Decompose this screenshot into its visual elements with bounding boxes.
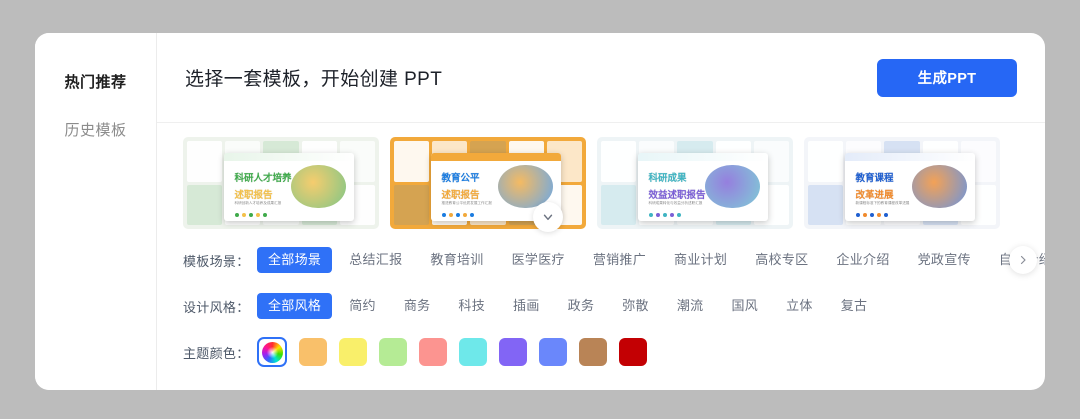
header: 选择一套模板，开始创建 PPT 生成PPT: [157, 33, 1045, 123]
filter-option-style-简约[interactable]: 简约: [338, 293, 387, 319]
filter-row-color: 主题颜色：: [183, 337, 1045, 367]
filter-options-scene[interactable]: 全部场景总结汇报教育培训医学医疗营销推广商业计划高校专区企业介绍党政宣传自我介绍: [257, 247, 1045, 273]
thumbnail-subtitle: 科研创新人才培养及成果汇报: [235, 201, 282, 206]
filter-option-scene-企业介绍[interactable]: 企业介绍: [825, 247, 900, 273]
main-panel: 选择一套模板，开始创建 PPT 生成PPT 科研人才培养述职报告科研创新人才培养…: [157, 33, 1045, 390]
template-thumbnail[interactable]: 科研成果效益述职报告科研成果转化与效益分析述职汇报: [597, 137, 793, 229]
filter-option-scene-总结汇报[interactable]: 总结汇报: [338, 247, 413, 273]
thumbnail-title-line2: 述职报告: [442, 187, 480, 201]
template-thumbnail[interactable]: 教育课程改革进展新课程标准下的教育课程改革进展: [804, 137, 1000, 229]
template-thumbnail-list[interactable]: 科研人才培养述职报告科研创新人才培养及成果汇报教育公平述职报告推进教育公平优质发…: [183, 137, 1045, 229]
template-thumbnail[interactable]: 科研人才培养述职报告科研创新人才培养及成果汇报: [183, 137, 379, 229]
filter-label-color: 主题颜色：: [183, 343, 257, 362]
filter-label-style: 设计风格：: [183, 297, 257, 316]
thumbnail-dots: [235, 213, 267, 217]
filter-option-scene-高校专区[interactable]: 高校专区: [744, 247, 819, 273]
thumbnail-title-line2: 效益述职报告: [649, 187, 706, 201]
thumbnail-subtitle: 科研成果转化与效益分析述职汇报: [649, 201, 703, 206]
thumbnail-subtitle: 推进教育公平优质发展工作汇报: [442, 201, 492, 206]
filter-option-style-商务[interactable]: 商务: [393, 293, 442, 319]
thumbnail-photo: [705, 165, 759, 209]
color-swatch-4[interactable]: [459, 338, 487, 366]
filter-option-style-复古[interactable]: 复古: [830, 293, 879, 319]
filter-option-scene-党政宣传[interactable]: 党政宣传: [907, 247, 982, 273]
filter-option-style-弥散[interactable]: 弥散: [611, 293, 660, 319]
thumbnail-dots: [442, 213, 474, 217]
sidebar-item-label: 热门推荐: [64, 74, 126, 91]
sidebar-item-hot-recommend[interactable]: 热门推荐: [35, 67, 156, 99]
thumbnail-title-line2: 述职报告: [235, 187, 273, 201]
thumbnail-dots: [649, 213, 681, 217]
filter-options-style[interactable]: 全部风格简约商务科技插画政务弥散潮流国风立体复古: [257, 293, 1045, 319]
thumbnail-title-line1: 科研成果: [649, 170, 687, 184]
thumbnail-title-line1: 科研人才培养: [235, 170, 292, 184]
color-wheel-icon[interactable]: [257, 337, 287, 367]
color-swatch-5[interactable]: [499, 338, 527, 366]
filter-option-style-国风[interactable]: 国风: [720, 293, 769, 319]
filter-option-style-科技[interactable]: 科技: [447, 293, 496, 319]
thumbnail-subtitle: 新课程标准下的教育课程改革进展: [856, 201, 910, 206]
filter-option-style-立体[interactable]: 立体: [775, 293, 824, 319]
filter-option-style-插画[interactable]: 插画: [502, 293, 551, 319]
thumbnail-photo: [912, 165, 966, 209]
filter-label-scene: 模板场景：: [183, 251, 257, 270]
filter-option-style-潮流[interactable]: 潮流: [666, 293, 715, 319]
chevron-right-icon[interactable]: [1009, 246, 1037, 274]
filter-row-style: 设计风格： 全部风格简约商务科技插画政务弥散潮流国风立体复古: [183, 291, 1045, 321]
color-swatch-3[interactable]: [419, 338, 447, 366]
thumbnail-photo: [291, 165, 345, 209]
filter-options-color[interactable]: [257, 337, 647, 367]
thumbnail-title-line2: 改革进展: [856, 187, 894, 201]
filter-option-scene-教育培训[interactable]: 教育培训: [419, 247, 494, 273]
color-swatch-7[interactable]: [579, 338, 607, 366]
generate-ppt-button[interactable]: 生成PPT: [877, 59, 1017, 97]
color-swatch-1[interactable]: [339, 338, 367, 366]
thumbnail-title-line1: 教育课程: [856, 170, 894, 184]
thumbnail-cover-slide: 科研成果效益述职报告科研成果转化与效益分析述职汇报: [638, 153, 767, 221]
filter-option-scene-全部场景[interactable]: 全部场景: [257, 247, 332, 273]
color-wheel-gradient: [262, 342, 283, 363]
sidebar-item-history-templates[interactable]: 历史模板: [35, 115, 156, 147]
thumbnail-cover-slide: 科研人才培养述职报告科研创新人才培养及成果汇报: [224, 153, 353, 221]
color-swatch-6[interactable]: [539, 338, 567, 366]
sidebar-item-label: 历史模板: [64, 122, 126, 139]
filters-section: 模板场景： 全部场景总结汇报教育培训医学医疗营销推广商业计划高校专区企业介绍党政…: [157, 229, 1045, 367]
color-swatch-0[interactable]: [299, 338, 327, 366]
page-title: 选择一套模板，开始创建 PPT: [185, 64, 877, 91]
filter-row-scene: 模板场景： 全部场景总结汇报教育培训医学医疗营销推广商业计划高校专区企业介绍党政…: [183, 245, 1045, 275]
template-picker-card: 热门推荐 历史模板 选择一套模板，开始创建 PPT 生成PPT 科研人才培养述职…: [35, 33, 1045, 390]
thumbnail-dots: [856, 213, 888, 217]
chevron-down-icon[interactable]: [533, 202, 563, 232]
color-swatch-2[interactable]: [379, 338, 407, 366]
sidebar: 热门推荐 历史模板: [35, 33, 157, 390]
template-thumbnails-section: 科研人才培养述职报告科研创新人才培养及成果汇报教育公平述职报告推进教育公平优质发…: [157, 123, 1045, 229]
filter-option-scene-商业计划[interactable]: 商业计划: [663, 247, 738, 273]
filter-option-style-全部风格[interactable]: 全部风格: [257, 293, 332, 319]
filter-option-scene-医学医疗[interactable]: 医学医疗: [501, 247, 576, 273]
color-swatch-8[interactable]: [619, 338, 647, 366]
filter-option-scene-营销推广[interactable]: 营销推广: [582, 247, 657, 273]
thumbnail-cover-slide: 教育课程改革进展新课程标准下的教育课程改革进展: [845, 153, 974, 221]
filter-option-style-政务[interactable]: 政务: [557, 293, 606, 319]
thumbnail-title-line1: 教育公平: [442, 170, 480, 184]
